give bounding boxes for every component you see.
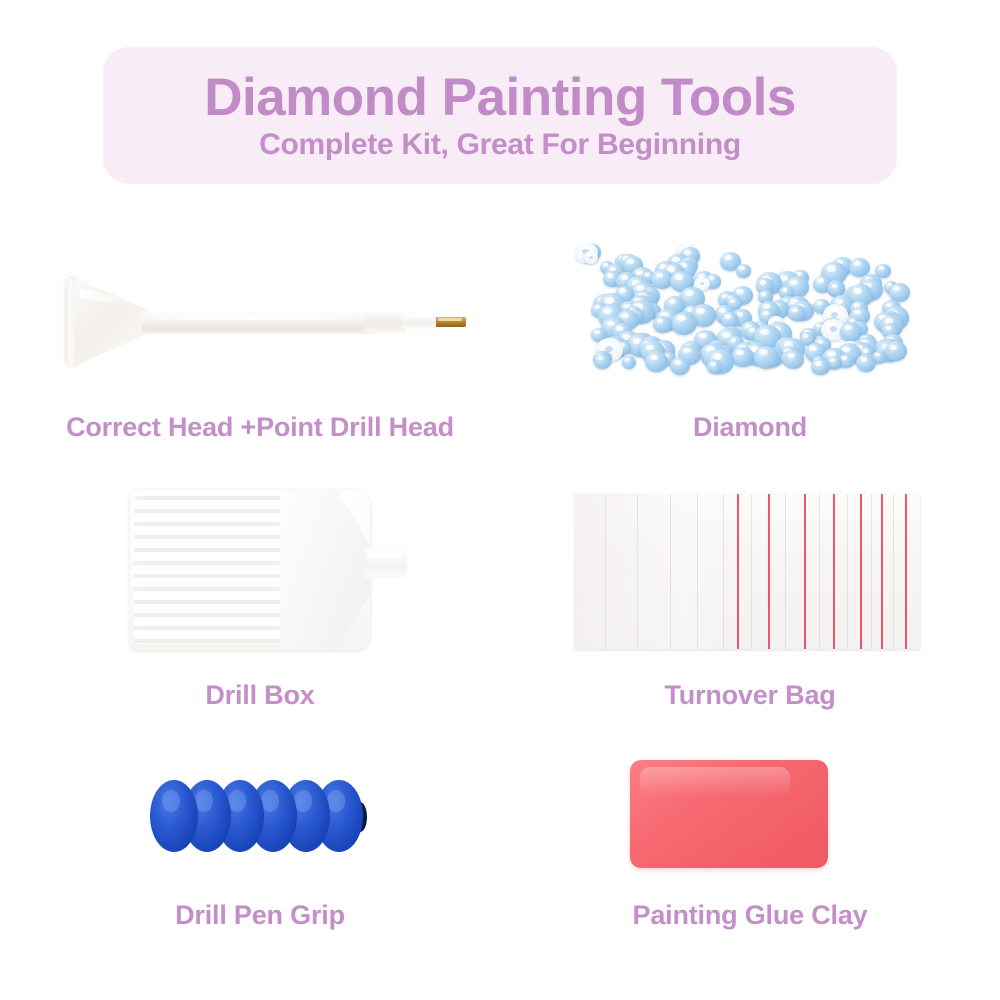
bag-fold-line (751, 494, 752, 649)
bag-fold-line (893, 494, 894, 649)
bag-red-stripe (833, 494, 835, 649)
painting-glue-clay-image (530, 745, 970, 895)
pen-grip-segment (150, 780, 198, 852)
zip-bag-shading (575, 494, 754, 649)
diamond-drill (622, 356, 636, 369)
diamond-drill (584, 251, 599, 264)
diamond-drills-image (530, 235, 970, 400)
drill-tray-grooves (134, 496, 292, 644)
bag-red-stripe (905, 494, 907, 649)
bag-fold-line (605, 494, 606, 649)
bag-red-stripe (804, 494, 806, 649)
bag-fold-line (723, 494, 724, 649)
diamond-drill (653, 316, 672, 333)
product-label-painting-glue-clay: Painting Glue Clay (530, 900, 970, 931)
diamond-drill (594, 354, 611, 370)
product-label-diamond: Diamond (530, 412, 970, 443)
diamond-drill (889, 283, 910, 302)
bag-red-stripe (860, 494, 862, 649)
drill-box-image (30, 480, 490, 680)
pen-collar-icon (364, 312, 406, 333)
diamond-drill (736, 264, 751, 278)
zip-bag-illustration (575, 494, 920, 649)
bag-red-stripe (881, 494, 883, 649)
pen-grip-illustration (150, 780, 365, 852)
bag-fold-line (637, 494, 638, 649)
drill-tray-slope (280, 490, 370, 650)
drill-pen-illustration (58, 272, 478, 372)
diamond-drill (829, 282, 845, 296)
bag-fold-line (697, 494, 698, 649)
diamond-drill (885, 341, 907, 361)
diamond-drill-pile-illustration (575, 243, 920, 391)
bag-fold-line (670, 494, 671, 649)
drill-tray-icon (130, 490, 370, 650)
diamond-drill (811, 359, 830, 376)
product-label-drill-box: Drill Box (30, 680, 490, 711)
turnover-bag-image (530, 480, 970, 680)
bag-fold-line (847, 494, 848, 649)
page-subtitle: Complete Kit, Great For Beginning (259, 130, 741, 160)
drill-pen-image (30, 240, 490, 400)
bag-fold-line (785, 494, 786, 649)
product-label-correct-head-point-drill-head: Correct Head +Point Drill Head (30, 412, 490, 443)
product-item-drill-box: Drill Box (30, 480, 490, 680)
drill-pen-grip-image (30, 745, 490, 895)
diamond-drill (783, 350, 804, 369)
bag-fold-line (871, 494, 872, 649)
diamond-drill (671, 312, 697, 336)
diamond-drill (754, 346, 780, 369)
diamond-drill (707, 360, 722, 373)
bag-red-stripe (768, 494, 770, 649)
product-item-turnover-bag: Turnover Bag (530, 480, 970, 680)
product-label-drill-pen-grip: Drill Pen Grip (30, 900, 490, 931)
bag-fold-line (819, 494, 820, 649)
pen-gold-tip-highlight (438, 318, 462, 321)
product-item-diamond: Diamond (530, 235, 970, 400)
product-label-turnover-bag: Turnover Bag (530, 680, 970, 711)
diamond-drill (731, 347, 754, 367)
product-item-correct-head-point-drill-head: Correct Head +Point Drill Head (30, 240, 490, 400)
glue-clay-highlight (640, 767, 790, 797)
product-item-painting-glue-clay: Painting Glue Clay (530, 745, 970, 895)
drill-tray-spout-highlight (367, 551, 403, 558)
glue-clay-block-icon (630, 760, 828, 868)
product-item-drill-pen-grip: Drill Pen Grip (30, 745, 490, 895)
bag-red-stripe (737, 494, 739, 649)
diamond-drill (645, 351, 668, 372)
diamond-drill (670, 357, 690, 375)
diamond-drill (856, 354, 876, 372)
page-title: Diamond Painting Tools (204, 71, 796, 125)
pen-barrel-highlight (150, 314, 360, 320)
header-banner: Diamond Painting Tools Complete Kit, Gre… (103, 47, 897, 184)
pen-grip-segment-highlight (162, 790, 180, 812)
